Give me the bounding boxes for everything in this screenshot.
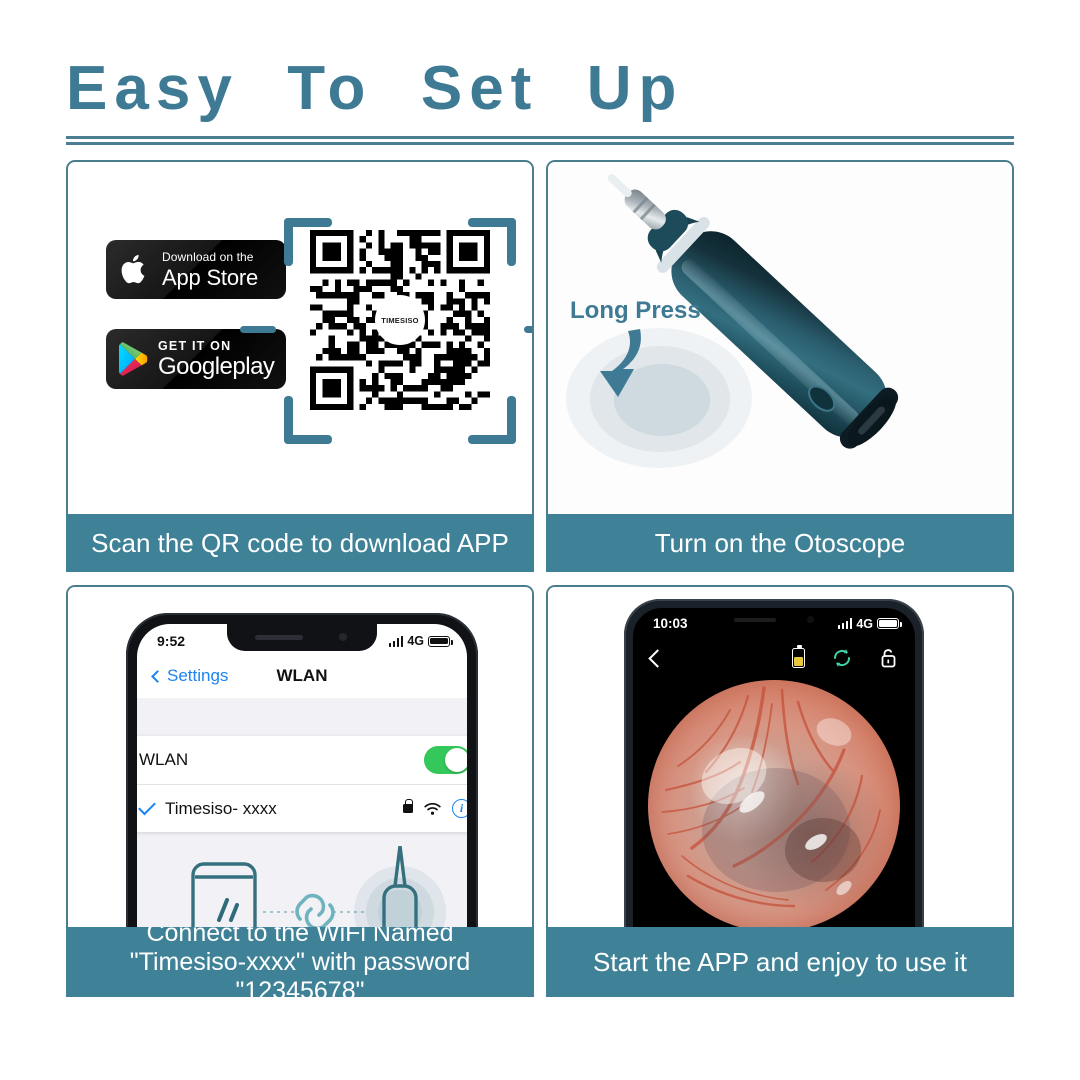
rule-top (66, 136, 1014, 139)
battery-icon (877, 618, 899, 629)
otoscope-view (633, 678, 915, 927)
google-play-big: Google (158, 353, 232, 380)
info-icon[interactable]: i (452, 799, 467, 818)
chevron-left-icon (151, 670, 164, 683)
long-press-arrow-icon (594, 327, 660, 413)
network-type: 4G (856, 617, 873, 631)
qr-code[interactable]: TIMESISO (310, 230, 490, 410)
rule-bottom (66, 142, 1014, 145)
panel-scan-qr: Download on the App Store (66, 160, 534, 572)
panel-start-app-body: 10:03 4G (546, 585, 1014, 927)
back-to-settings-button[interactable]: Settings (153, 666, 228, 686)
store-badges: Download on the App Store (106, 240, 286, 389)
eardrum-image (648, 680, 900, 927)
phone-notch (708, 608, 840, 632)
panel-connect-wifi-body: 9:52 4G Settings (66, 585, 534, 927)
google-play-small: GET IT ON (158, 339, 231, 353)
wlan-toggle-row[interactable]: WLAN (137, 736, 467, 784)
wifi-icon (424, 803, 441, 815)
panel-turn-on: Long Press Turn on the Otoscope (546, 160, 1014, 572)
rotate-icon[interactable] (831, 647, 853, 669)
phone-mockup-app: 10:03 4G (624, 599, 924, 927)
lock-icon[interactable] (879, 648, 897, 668)
header: Easy To Set Up (66, 58, 1014, 145)
panel-start-app: 10:03 4G (546, 585, 1014, 997)
long-press-label: Long Press (570, 297, 701, 325)
steps-grid: Download on the App Store (66, 160, 1014, 1018)
network-type: 4G (407, 634, 424, 648)
battery-icon (792, 648, 805, 668)
earpiece-speaker (734, 618, 776, 622)
wlan-settings-card: WLAN Timesiso- xxxx (137, 736, 467, 832)
google-play-icon (118, 342, 148, 376)
app-store-text: Download on the App Store (162, 249, 258, 290)
signal-bars-icon (389, 636, 404, 647)
wlan-row-label: WLAN (139, 750, 188, 770)
status-time: 10:03 (653, 616, 688, 631)
wlan-toggle[interactable] (424, 746, 467, 774)
battery-icon (428, 636, 450, 647)
title-underline (66, 136, 1014, 145)
qr-zone: TIMESISO (284, 218, 516, 444)
promo-infographic: Easy To Set Up Download on the (0, 0, 1080, 1080)
wlan-network-row[interactable]: Timesiso- xxxx i (137, 784, 467, 832)
back-icon[interactable] (648, 649, 666, 667)
phone-screen-wlan: 9:52 4G Settings (137, 624, 467, 927)
panel-turn-on-body: Long Press (546, 160, 1014, 514)
panel-scan-qr-body: Download on the App Store (66, 160, 534, 514)
nav-bar-wlan: Settings WLAN (137, 654, 467, 698)
app-toolbar (633, 638, 915, 678)
app-store-small: Download on the (162, 250, 254, 264)
phone-mockup-wlan: 9:52 4G Settings (126, 613, 478, 927)
caption-connect-wifi: Connect to the WiFi Named "Timesiso-xxxx… (66, 927, 534, 997)
qr-logo: TIMESISO (375, 295, 425, 345)
app-store-big: App Store (162, 265, 258, 290)
google-play-badge[interactable]: GET IT ON Googleplay (106, 329, 286, 389)
caption-turn-on: Turn on the Otoscope (546, 514, 1014, 572)
pairing-illustration (137, 846, 467, 927)
caption-wifi-line2: "Timesiso-xxxx" with password "12345678" (130, 948, 471, 1005)
caption-scan-qr: Scan the QR code to download APP (66, 514, 534, 572)
ssid-label: Timesiso- xxxx (165, 799, 277, 819)
signal-bars-icon (838, 618, 853, 629)
phone-notch (227, 624, 377, 651)
google-play-big-light: play (232, 353, 274, 380)
earpiece-speaker (255, 635, 303, 640)
caption-start-app: Start the APP and enjoy to use it (546, 927, 1014, 997)
app-store-badge[interactable]: Download on the App Store (106, 240, 286, 299)
panel-connect-wifi: 9:52 4G Settings (66, 585, 534, 997)
page-title: Easy To Set Up (66, 58, 1014, 120)
google-play-text: GET IT ON Googleplay (158, 338, 274, 380)
phone-screen-app: 10:03 4G (633, 608, 915, 927)
apple-icon (118, 249, 152, 289)
checkmark-icon (138, 798, 156, 816)
status-time: 9:52 (157, 633, 185, 649)
back-label: Settings (167, 666, 228, 686)
lock-icon (403, 804, 413, 813)
front-camera (807, 616, 814, 623)
front-camera (339, 633, 347, 641)
